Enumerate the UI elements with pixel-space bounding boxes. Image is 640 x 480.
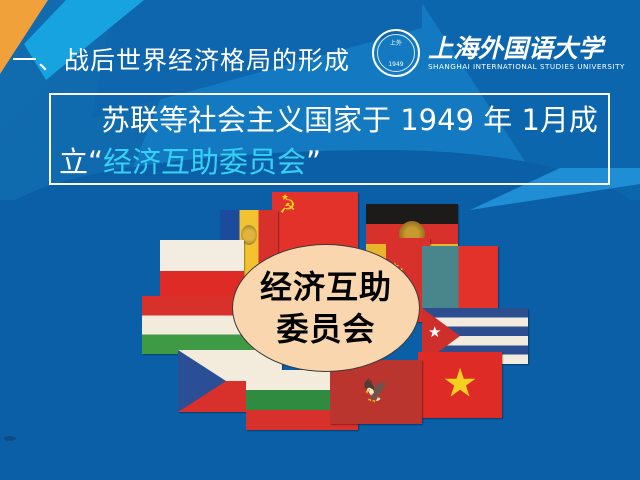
albania-eagle-icon: 🦅 [362,381,389,403]
statement-highlight: 经济互助委员会 [103,145,306,179]
poland-flag [160,240,244,302]
caption-line-1: 经济互助 [260,266,392,308]
logo-name-cn: 上海外国语大学 [428,35,625,62]
cuba-star-icon: ★ [428,325,441,340]
czech-triangle [178,350,226,412]
statement-textbox: 苏联等社会主义国家于 1949 年 1月成立“经济互助委员会” [49,93,610,185]
vietnam-star-icon: ★ [442,363,478,403]
hammer-sickle-icon: ☭ [279,198,299,218]
university-seal-icon: 上外 1949 [372,29,420,77]
logo-name-en: SHANGHAI INTERNATIONAL STUDIES UNIVERSIT… [428,62,625,72]
university-logo: 上外 1949 上海外国语大学 SHANGHAI INTERNATIONAL S… [372,24,624,82]
page-title: 一、战后世界经济格局的形成 [12,44,392,78]
vietnam-flag: ★ [418,352,502,418]
statement-text: 苏联等社会主义国家于 1949 年 1月成立“经济互助委员会” [51,95,608,183]
stray-mark [4,436,16,441]
caption-line-2: 委员会 [276,308,375,350]
seal-text: 上外 [374,40,418,47]
flag-collage: ★ ☭ ★ ★★★ ★ ★ 🦅 经济互助 委员会 [160,192,496,424]
statement-line2-suffix: ” [306,145,321,179]
seal-year: 1949 [374,62,418,68]
logo-wordmark: 上海外国语大学 SHANGHAI INTERNATIONAL STUDIES U… [428,35,625,72]
presentation-slide: 一、战后世界经济格局的形成 上外 1949 上海外国语大学 SHANGHAI I… [0,0,640,480]
statement-line1: 苏联等社会主义国家于 1949 年 1 [101,103,540,137]
collage-caption-oval: 经济互助 委员会 [232,244,420,372]
